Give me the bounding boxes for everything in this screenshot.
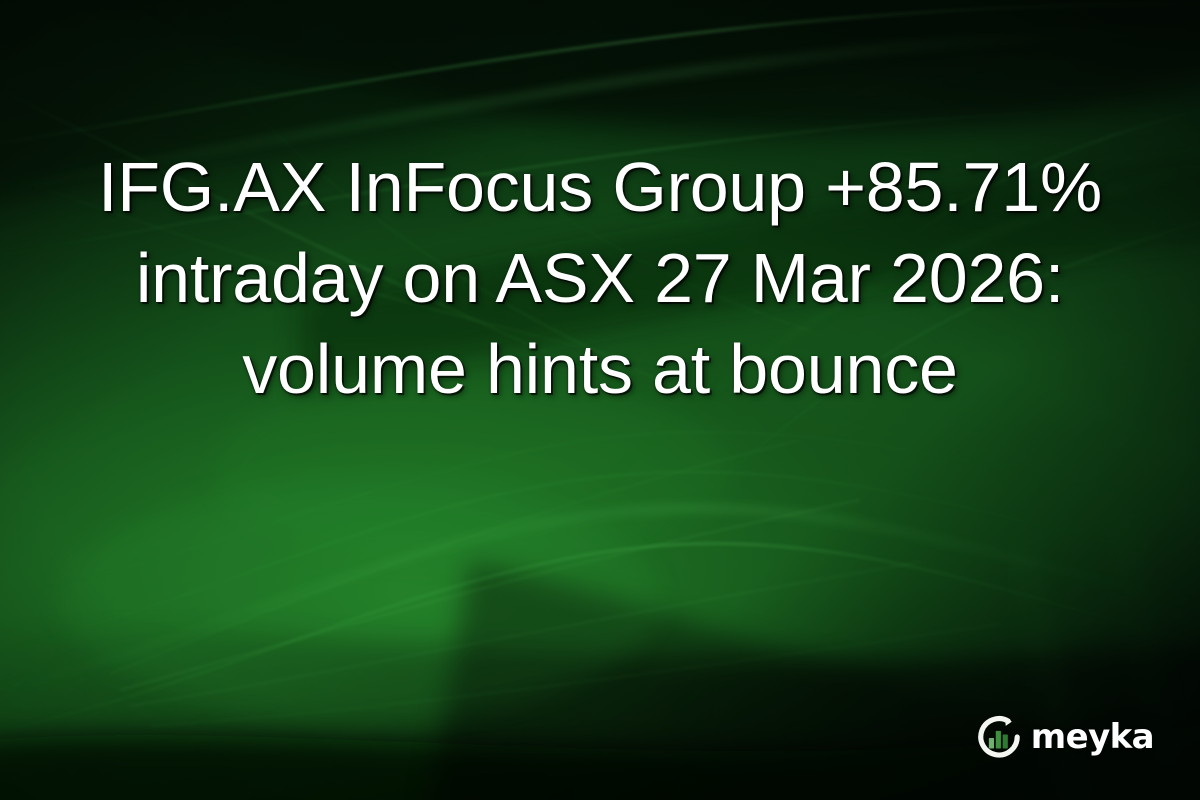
headline-text: IFG.AX InFocus Group +85.71% intraday on… bbox=[48, 142, 1152, 415]
share-card: IFG.AX InFocus Group +85.71% intraday on… bbox=[0, 0, 1200, 800]
brand-name-text: meyka bbox=[1031, 720, 1154, 754]
meyka-logo-icon bbox=[976, 714, 1022, 760]
brand-lockup: meyka bbox=[976, 714, 1154, 760]
headline-block: IFG.AX InFocus Group +85.71% intraday on… bbox=[0, 142, 1200, 415]
